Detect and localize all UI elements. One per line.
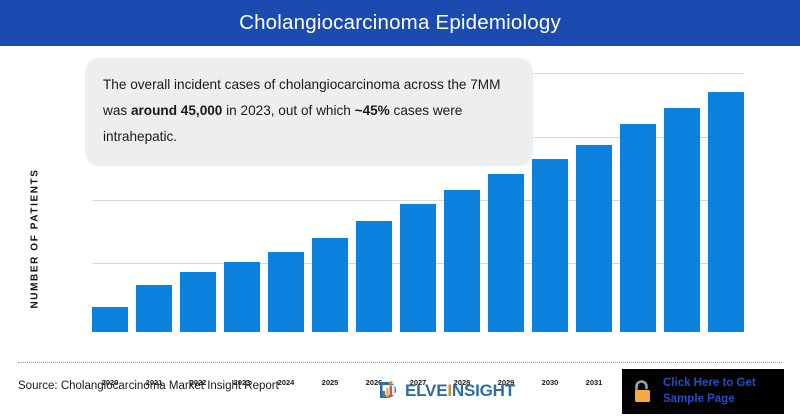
bar-slot bbox=[532, 60, 568, 332]
bar-slot bbox=[620, 60, 656, 332]
bar-2030[interactable] bbox=[532, 159, 568, 332]
logo-text-rest: ELVE bbox=[405, 381, 447, 400]
callout-box: The overall incident cases of cholangioc… bbox=[85, 58, 533, 166]
bar-2034[interactable] bbox=[708, 92, 744, 332]
delveinsight-logo: ELVEINSIGHT bbox=[378, 378, 515, 402]
logo-text-end: NSIGHT bbox=[452, 381, 515, 400]
bar-2029[interactable] bbox=[488, 174, 524, 332]
page-title: Cholangiocarcinoma Epidemiology bbox=[239, 11, 561, 35]
bar-2024[interactable] bbox=[268, 252, 304, 332]
page-header: Cholangiocarcinoma Epidemiology bbox=[0, 0, 800, 46]
cta-line-1: Click Here to Get bbox=[663, 377, 756, 389]
bar-2025[interactable] bbox=[312, 238, 348, 332]
bar-2020[interactable] bbox=[92, 307, 128, 332]
bar-2032[interactable] bbox=[620, 124, 656, 332]
bar-slot bbox=[664, 60, 700, 332]
callout-part2: in 2023, out of which bbox=[222, 103, 354, 118]
sample-page-cta-button[interactable]: Click Here to Get Sample Page bbox=[622, 369, 784, 414]
open-padlock-icon bbox=[632, 379, 654, 405]
bar-2021[interactable] bbox=[136, 285, 172, 332]
bar-2028[interactable] bbox=[444, 190, 480, 332]
bar-2023[interactable] bbox=[224, 262, 260, 332]
source-label: Source: Cholangiocarcinoma Market Insigh… bbox=[18, 380, 279, 392]
delveinsight-logo-text: ELVEINSIGHT bbox=[405, 382, 515, 399]
y-axis-title: NUMBER OF PATIENTS bbox=[23, 146, 47, 331]
delveinsight-logo-mark bbox=[378, 378, 404, 402]
bar-2027[interactable] bbox=[400, 204, 436, 332]
cta-line-2: Sample Page bbox=[663, 393, 735, 405]
bar-2031[interactable] bbox=[576, 145, 612, 332]
callout-text: The overall incident cases of cholangioc… bbox=[103, 72, 515, 150]
sample-page-cta-label: Click Here to Get Sample Page bbox=[663, 376, 756, 407]
callout-bold1: around 45,000 bbox=[131, 103, 222, 118]
bar-2022[interactable] bbox=[180, 272, 216, 332]
callout-bold2: ~45% bbox=[355, 103, 390, 118]
y-axis-title-label: NUMBER OF PATIENTS bbox=[30, 168, 41, 308]
bar-2026[interactable] bbox=[356, 221, 392, 332]
bar-2033[interactable] bbox=[664, 108, 700, 332]
bar-slot bbox=[576, 60, 612, 332]
bar-slot bbox=[708, 60, 744, 332]
